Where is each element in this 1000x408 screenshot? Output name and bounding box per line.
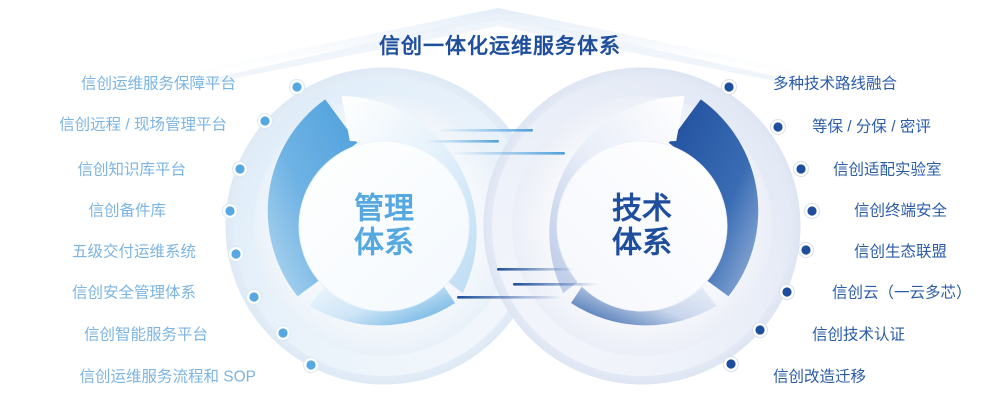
right-node-dot-2[interactable] [773,122,782,131]
right-node-dot-5[interactable] [801,245,810,254]
left-label-2[interactable]: 信创远程 / 现场管理平台 [59,117,227,133]
left-node-dot-6[interactable] [249,292,258,301]
right-label-7[interactable]: 信创技术认证 [812,327,905,343]
left-label-7[interactable]: 信创智能服务平台 [84,327,208,343]
right-node-dot-8[interactable] [726,359,735,368]
right-node-dot-1[interactable] [724,82,733,91]
right-label-3[interactable]: 信创适配实验室 [833,162,942,178]
left-center-line2: 体系 [354,226,414,260]
right-node-dot-4[interactable] [807,206,816,215]
right-node-dot-7[interactable] [755,325,764,334]
right-node-dot-6[interactable] [782,287,791,296]
infographic-stage: 信创一体化运维服务体系 管理 体系 技术 体系 信创运维服务保障平台信创远程 /… [0,0,1000,408]
right-center-line2: 体系 [612,226,672,260]
right-label-5[interactable]: 信创生态联盟 [854,244,947,260]
right-label-8[interactable]: 信创改造迁移 [773,369,866,385]
left-node-dot-1[interactable] [292,82,301,91]
right-center-line1: 技术 [612,192,672,226]
right-node-dot-3[interactable] [796,164,805,173]
left-label-4[interactable]: 信创备件库 [88,203,166,219]
left-label-1[interactable]: 信创运维服务保障平台 [81,76,236,92]
left-center-line1: 管理 [354,192,414,226]
left-node-dot-8[interactable] [306,360,315,369]
right-label-6[interactable]: 信创云（一云多芯） [832,285,972,301]
right-label-4[interactable]: 信创终端安全 [854,203,947,219]
left-label-3[interactable]: 信创知识库平台 [77,162,186,178]
left-node-dot-7[interactable] [278,328,287,337]
left-label-6[interactable]: 信创安全管理体系 [72,285,196,301]
left-node-dot-2[interactable] [260,116,269,125]
left-node-dot-5[interactable] [231,249,240,258]
left-label-5[interactable]: 五级交付运维系统 [72,244,196,260]
left-node-dot-4[interactable] [225,206,234,215]
right-label-2[interactable]: 等保 / 分保 / 密评 [812,119,931,135]
left-node-dot-3[interactable] [235,164,244,173]
right-label-1[interactable]: 多种技术路线融合 [773,76,897,92]
page-title: 信创一体化运维服务体系 [0,30,1000,60]
left-center-label: 管理 体系 [354,192,414,259]
left-label-8[interactable]: 信创运维服务流程和 SOP [79,369,256,385]
right-center-label: 技术 体系 [612,192,672,259]
